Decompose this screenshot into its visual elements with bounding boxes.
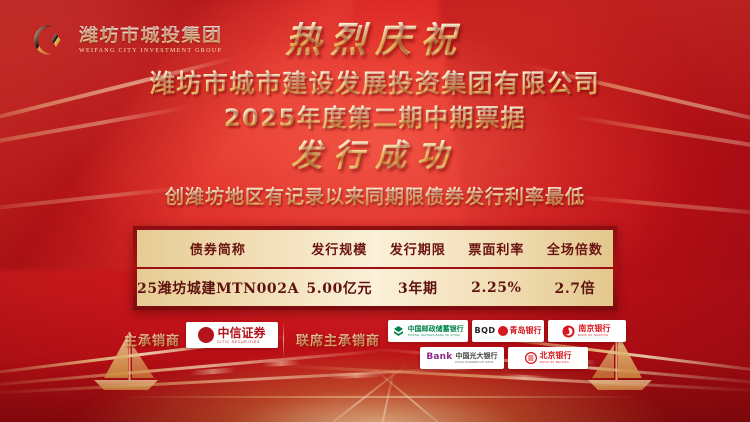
underwriter-divider bbox=[283, 322, 284, 358]
logo-bank-of-beijing: 北京银行 BANK OF BEIJING bbox=[508, 347, 588, 369]
bqd-mark-icon bbox=[498, 326, 508, 336]
bqd-name-en: BQD bbox=[474, 327, 495, 335]
poster-canvas: 潍坊市城投集团 WEIFANG CITY INVESTMENT GROUP 热烈… bbox=[0, 0, 750, 422]
citic-mark-icon bbox=[198, 327, 214, 343]
cell-tenor: 3年期 bbox=[380, 278, 456, 298]
bond-summary-table: 债券简称 发行规模 发行期限 票面利率 全场倍数 25潍坊城建MTN002A 5… bbox=[133, 226, 617, 310]
logo-china-everbright-bank: Bank 中国光大银行 CHINA EVERBRIGHT BANK bbox=[420, 347, 504, 369]
everbright-mark-icon: Bank bbox=[426, 353, 452, 362]
headline-company: 潍坊市城市建设发展投资集团有限公司 bbox=[0, 68, 750, 99]
psbc-mark-icon bbox=[392, 325, 405, 338]
nanjing-name-zh: 南京银行 bbox=[578, 325, 611, 333]
beijing-name-en: BANK OF BEIJING bbox=[540, 361, 569, 364]
column-header-tenor: 发行期限 bbox=[380, 239, 456, 258]
logo-bank-of-nanjing: 南京银行 BANK OF NANJING bbox=[548, 320, 626, 342]
beijing-mark-icon bbox=[525, 352, 537, 364]
lead-underwriter-label: 主承销商 bbox=[124, 330, 180, 349]
cell-bond-name: 25潍坊城建MTN002A bbox=[137, 278, 299, 298]
table-header-row: 债券简称 发行规模 发行期限 票面利率 全场倍数 bbox=[137, 230, 613, 269]
table-row: 25潍坊城建MTN002A 5.00亿元 3年期 2.25% 2.7倍 bbox=[137, 269, 613, 306]
logo-postal-savings-bank: 中国邮政储蓄银行 POSTAL SAVINGS BANK OF CHINA bbox=[388, 320, 468, 342]
joint-underwriter-label: 联席主承销商 bbox=[296, 330, 380, 349]
psbc-name-en: POSTAL SAVINGS BANK OF CHINA bbox=[408, 334, 460, 337]
psbc-name-zh: 中国邮政储蓄银行 bbox=[408, 326, 465, 333]
nanjing-mark-icon bbox=[562, 325, 575, 338]
headline-celebrate: 热烈庆祝 bbox=[0, 22, 750, 60]
column-header-issue-size: 发行规模 bbox=[299, 239, 380, 258]
citic-name-zh: 中信证券 bbox=[217, 327, 265, 339]
headline-claim: 创潍坊地区有记录以来同期限债券发行利率最低 bbox=[0, 182, 750, 209]
citic-name-en: CITIC SECURITIES bbox=[217, 340, 261, 344]
logo-bank-of-qingdao: BQD 青岛银行 bbox=[472, 320, 544, 342]
column-header-coupon-rate: 票面利率 bbox=[456, 239, 537, 258]
cell-coupon-rate: 2.25% bbox=[456, 280, 537, 296]
beijing-name-zh: 北京银行 bbox=[540, 352, 572, 360]
cell-bid-cover: 2.7倍 bbox=[537, 278, 613, 298]
headline-success: 发行成功 bbox=[0, 139, 750, 173]
everbright-name-zh: 中国光大银行 bbox=[455, 353, 497, 360]
column-header-bond-name: 债券简称 bbox=[137, 239, 299, 258]
bqd-name-zh: 青岛银行 bbox=[510, 327, 542, 335]
everbright-name-en: CHINA EVERBRIGHT BANK bbox=[455, 361, 494, 364]
cell-issue-size: 5.00亿元 bbox=[299, 278, 380, 298]
headline-block: 热烈庆祝 潍坊市城市建设发展投资集团有限公司 2025年度第二期中期票据 发行成… bbox=[0, 22, 750, 209]
underwriters-block: 主承销商 联席主承销商 中信证券 CITIC SECURITIES 中国邮 bbox=[0, 320, 750, 378]
headline-series: 2025年度第二期中期票据 bbox=[0, 103, 750, 133]
nanjing-name-en: BANK OF NANJING bbox=[578, 334, 609, 337]
column-header-bid-cover: 全场倍数 bbox=[537, 239, 613, 258]
logo-citic-securities: 中信证券 CITIC SECURITIES bbox=[186, 322, 278, 348]
